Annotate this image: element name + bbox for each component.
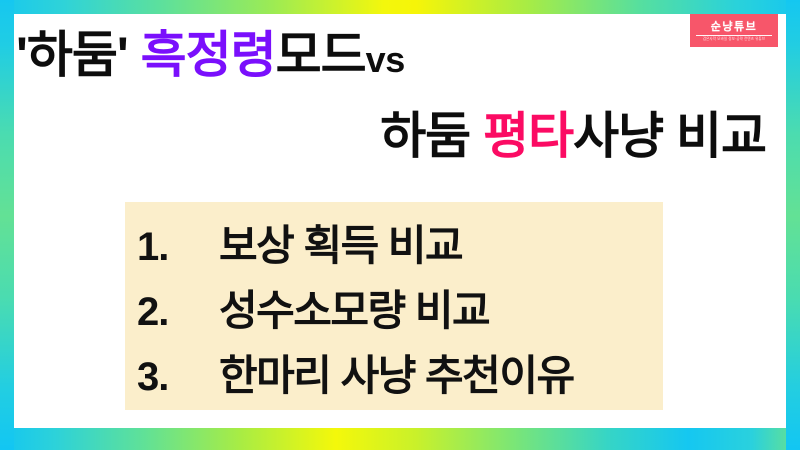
headline-line2-part3: 사냥 비교 [573, 108, 766, 164]
topic-list-panel: 1. 보상 획득 비교 2. 성수소모량 비교 3. 한마리 사냥 추천이유 [125, 202, 663, 410]
headline-line2-part1: 하둠 [380, 108, 483, 164]
list-item-index: 1. [137, 225, 219, 270]
list-item-label: 한마리 사냥 추천이유 [219, 342, 574, 403]
thumbnail-canvas: 순냥튜브 검은사막 모바일 정보·공략 컨텐츠 유튜브 '하둠' 흑정령모드vs… [0, 0, 800, 450]
headline-line1-accent-heukjeongryeong: 흑정령 [141, 27, 276, 83]
list-item-label: 보상 획득 비교 [219, 212, 462, 273]
frame-gradient-top [0, 0, 800, 14]
frame-gradient-bottom [0, 428, 800, 450]
list-item-label: 성수소모량 비교 [219, 277, 489, 338]
list-item-index: 3. [137, 355, 219, 400]
headline-line1-part3: 모드 [276, 27, 366, 83]
headline-line1-part1: '하둠' [16, 27, 141, 83]
headline-line-1: '하둠' 흑정령모드vs [0, 24, 800, 91]
headline-line-2: 하둠 평타사냥 비교 [0, 105, 800, 167]
headline-line1-vs: vs [366, 39, 405, 80]
list-item-index: 2. [137, 290, 219, 335]
list-item: 3. 한마리 사냥 추천이유 [125, 342, 663, 407]
list-item: 1. 보상 획득 비교 [125, 212, 663, 277]
list-item: 2. 성수소모량 비교 [125, 277, 663, 342]
headline-line2-accent-pyeongta: 평타 [483, 108, 573, 164]
headline-block: '하둠' 흑정령모드vs 하둠 평타사냥 비교 [0, 24, 800, 167]
